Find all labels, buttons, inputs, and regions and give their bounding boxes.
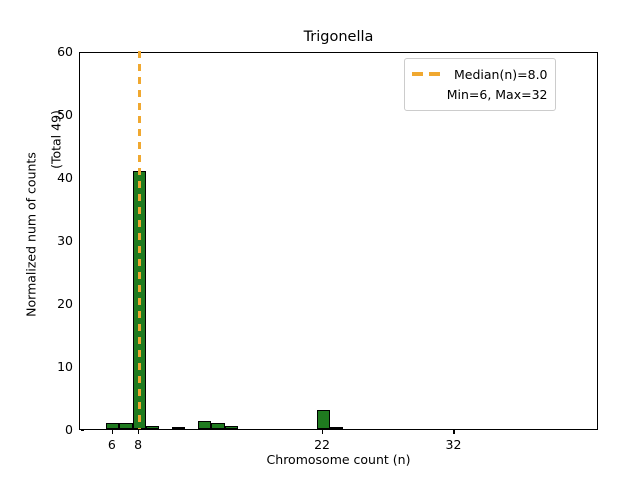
- x-tick-label: 32: [423, 437, 483, 452]
- y-tick-label: 10: [13, 361, 73, 373]
- x-tick-label: 8: [108, 437, 168, 452]
- x-tick-mark: [138, 430, 139, 434]
- y-tick-label: 30: [13, 235, 73, 247]
- x-tick-mark: [112, 430, 113, 434]
- y-tick-label: 40: [13, 172, 73, 184]
- chart-title: Trigonella: [79, 28, 598, 46]
- y-axis-tick-labels: Normalized num of counts (Total 49) 0102…: [5, 52, 73, 430]
- x-axis-label: Chromosome count (n): [79, 452, 598, 467]
- legend-item-median: Median(n)=8.0: [412, 64, 548, 84]
- legend-item-range: Min=6, Max=32: [412, 84, 548, 104]
- chart-figure: Trigonella Normalized num of counts (Tot…: [0, 0, 640, 480]
- y-tick-label: 50: [13, 109, 73, 121]
- legend-label-median: Median(n)=8.0: [454, 67, 548, 82]
- x-tick-mark: [453, 430, 454, 434]
- legend-label-range: Min=6, Max=32: [447, 87, 548, 102]
- y-tick-label: 60: [13, 46, 73, 58]
- x-tick-mark: [322, 430, 323, 434]
- median-line: [138, 51, 141, 429]
- y-tick-label: 0: [13, 424, 73, 436]
- y-tick-label: 20: [13, 298, 73, 310]
- chart-legend: Median(n)=8.0 Min=6, Max=32: [404, 58, 556, 111]
- x-tick-label: 22: [292, 437, 352, 452]
- dashed-line-icon: [412, 72, 446, 76]
